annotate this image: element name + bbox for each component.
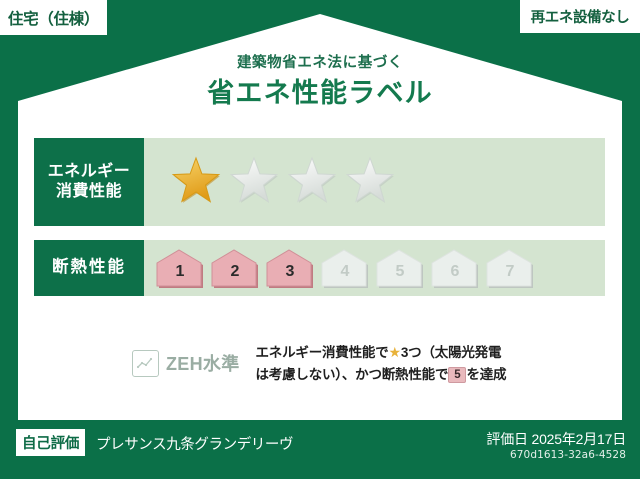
- star-empty-icon: [343, 156, 397, 208]
- title-subtitle: 建築物省エネ法に基づく: [0, 56, 640, 71]
- star-empty-icon: [285, 156, 339, 208]
- insulation-grade-4: 4: [319, 247, 371, 289]
- energy-performance-label-block: エネルギー 消費性能: [34, 138, 144, 226]
- zeh-chart-icon: [132, 350, 159, 377]
- insulation-grade-5: 5: [374, 247, 426, 289]
- zeh-desc-line2-b: を達成: [466, 367, 506, 382]
- star-rating: [144, 156, 397, 208]
- zeh-desc-line2-a: は考慮しない）、かつ断熱性能で: [256, 367, 449, 382]
- building-type-tag: 住宅（住棟）: [0, 0, 107, 35]
- insulation-grade-2: 2: [209, 247, 261, 289]
- page-title: 省エネ性能ラベル: [0, 80, 640, 107]
- grade-number: 4: [341, 264, 350, 289]
- zeh-desc-line1-a: エネルギー消費性能で: [256, 345, 389, 360]
- insulation-performance-value: 1234567: [144, 240, 605, 296]
- evaluation-date: 評価日 2025年2月17日: [486, 429, 626, 449]
- zeh-note-row: ZEH水準 エネルギー消費性能で★3つ（太陽光発電 は考慮しない）、かつ断熱性能…: [34, 332, 605, 394]
- insulation-label: 断熱性能: [52, 257, 126, 278]
- energy-performance-value: [144, 138, 605, 226]
- insulation-performance-label-block: 断熱性能: [34, 240, 144, 296]
- label-id: 670d1613-32a6-4528: [510, 449, 626, 461]
- grade-number: 6: [451, 264, 460, 289]
- renewable-energy-tag-label: 再エネ設備なし: [531, 6, 630, 27]
- grade-number: 7: [506, 264, 515, 289]
- renewable-energy-tag: 再エネ設備なし: [520, 0, 640, 33]
- insulation-performance-row: 断熱性能 1234567: [34, 240, 605, 296]
- energy-label-line1: エネルギー: [48, 162, 131, 182]
- insulation-grade-7: 7: [484, 247, 536, 289]
- footer: 自己評価 プレサンス九条グランデリーヴ 評価日 2025年2月17日 670d1…: [0, 423, 640, 479]
- insulation-grade-6: 6: [429, 247, 481, 289]
- zeh-desc-line1-b: 3つ（太陽光発電: [401, 345, 501, 360]
- zeh-description: エネルギー消費性能で★3つ（太陽光発電 は考慮しない）、かつ断熱性能で5を達成: [256, 341, 507, 386]
- grade-number: 2: [231, 264, 240, 289]
- zeh-mark: ZEH水準: [34, 350, 240, 377]
- energy-performance-row: エネルギー 消費性能: [34, 138, 605, 226]
- grade-number: 3: [286, 264, 295, 289]
- energy-label-line2: 消費性能: [56, 182, 122, 202]
- title-block: 建築物省エネ法に基づく 省エネ性能ラベル: [0, 56, 640, 107]
- assessment-type-badge: 自己評価: [16, 429, 85, 456]
- inline-grade-badge: 5: [448, 367, 466, 383]
- building-type-tag-label: 住宅（住棟）: [8, 7, 99, 29]
- star-empty-icon: [227, 156, 281, 208]
- insulation-grade-scale: 1234567: [144, 247, 536, 289]
- inline-star-icon: ★: [389, 344, 401, 360]
- grade-number: 5: [396, 264, 405, 289]
- insulation-grade-1: 1: [154, 247, 206, 289]
- energy-performance-label: 住宅（住棟） 再エネ設備なし 建築物省エネ法に基づく 省エネ性能ラベル エネルギ…: [0, 0, 640, 479]
- zeh-mark-label: ZEH水準: [166, 350, 240, 376]
- building-name: プレサンス九条グランデリーヴ: [96, 433, 293, 454]
- insulation-grade-3: 3: [264, 247, 316, 289]
- star-filled-icon: [169, 156, 223, 208]
- grade-number: 1: [176, 264, 185, 289]
